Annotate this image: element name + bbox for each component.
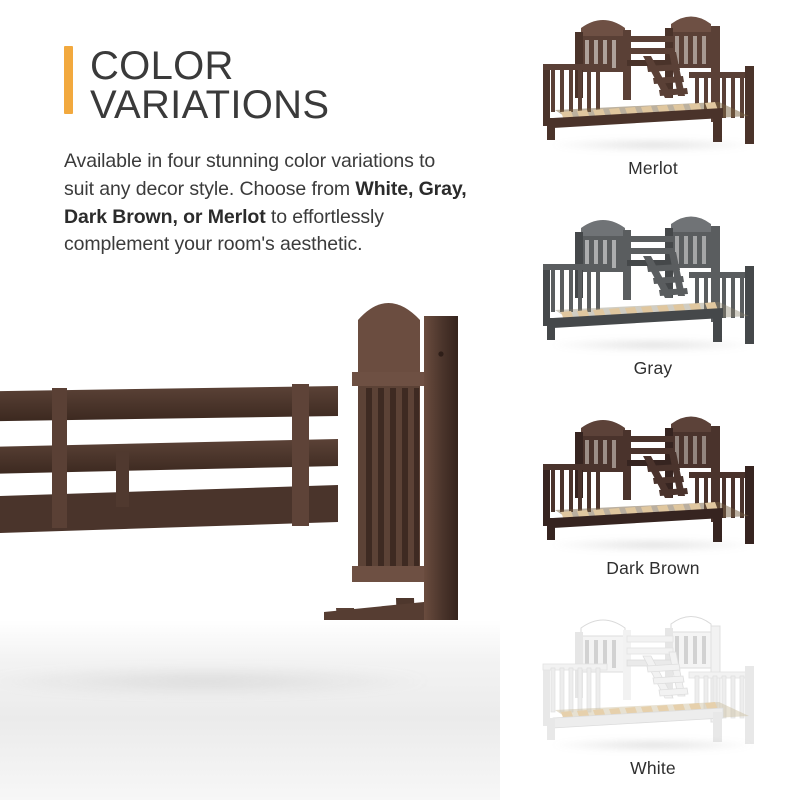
merlot-bed-thumbnail	[523, 6, 783, 156]
dark-brown-bed-thumbnail	[523, 406, 783, 556]
color-variation-merlot[interactable]: Merlot	[506, 0, 800, 200]
color-variation-gray[interactable]: Gray	[506, 200, 800, 400]
gray-bed-thumbnail	[523, 206, 783, 356]
bed-frame	[543, 417, 754, 545]
text-panel: COLOR VARIATIONS Available in four stunn…	[64, 46, 484, 259]
swatch-label-white: White	[630, 758, 676, 779]
bed-frame	[543, 617, 754, 745]
page-title: COLOR VARIATIONS	[90, 46, 329, 125]
hero-headboard-arch	[352, 303, 424, 582]
page-title-line-1: COLOR	[90, 47, 329, 86]
gray-shadow	[549, 338, 757, 352]
white-bed-thumbnail	[523, 606, 783, 756]
hero-upper-guardrail	[0, 384, 338, 535]
bed-frame	[543, 17, 754, 145]
swatch-label-gray: Gray	[634, 358, 673, 379]
description-paragraph: Available in four stunning color variati…	[64, 148, 468, 259]
hero-product-image	[0, 276, 500, 800]
accent-bar	[64, 46, 73, 114]
heading-row: COLOR VARIATIONS	[64, 46, 484, 125]
dark-brown-shadow	[549, 538, 757, 552]
color-variations-list: Merlot	[506, 0, 800, 800]
white-shadow	[549, 738, 757, 752]
swatch-label-dark-brown: Dark Brown	[606, 558, 699, 579]
merlot-shadow	[549, 138, 757, 152]
color-variation-dark-brown[interactable]: Dark Brown	[506, 400, 800, 600]
hero-floor	[0, 620, 500, 800]
swatch-label-merlot: Merlot	[628, 158, 678, 179]
bed-frame	[543, 217, 754, 345]
color-variation-white[interactable]: White	[506, 600, 800, 800]
page-title-line-2: VARIATIONS	[90, 86, 329, 125]
